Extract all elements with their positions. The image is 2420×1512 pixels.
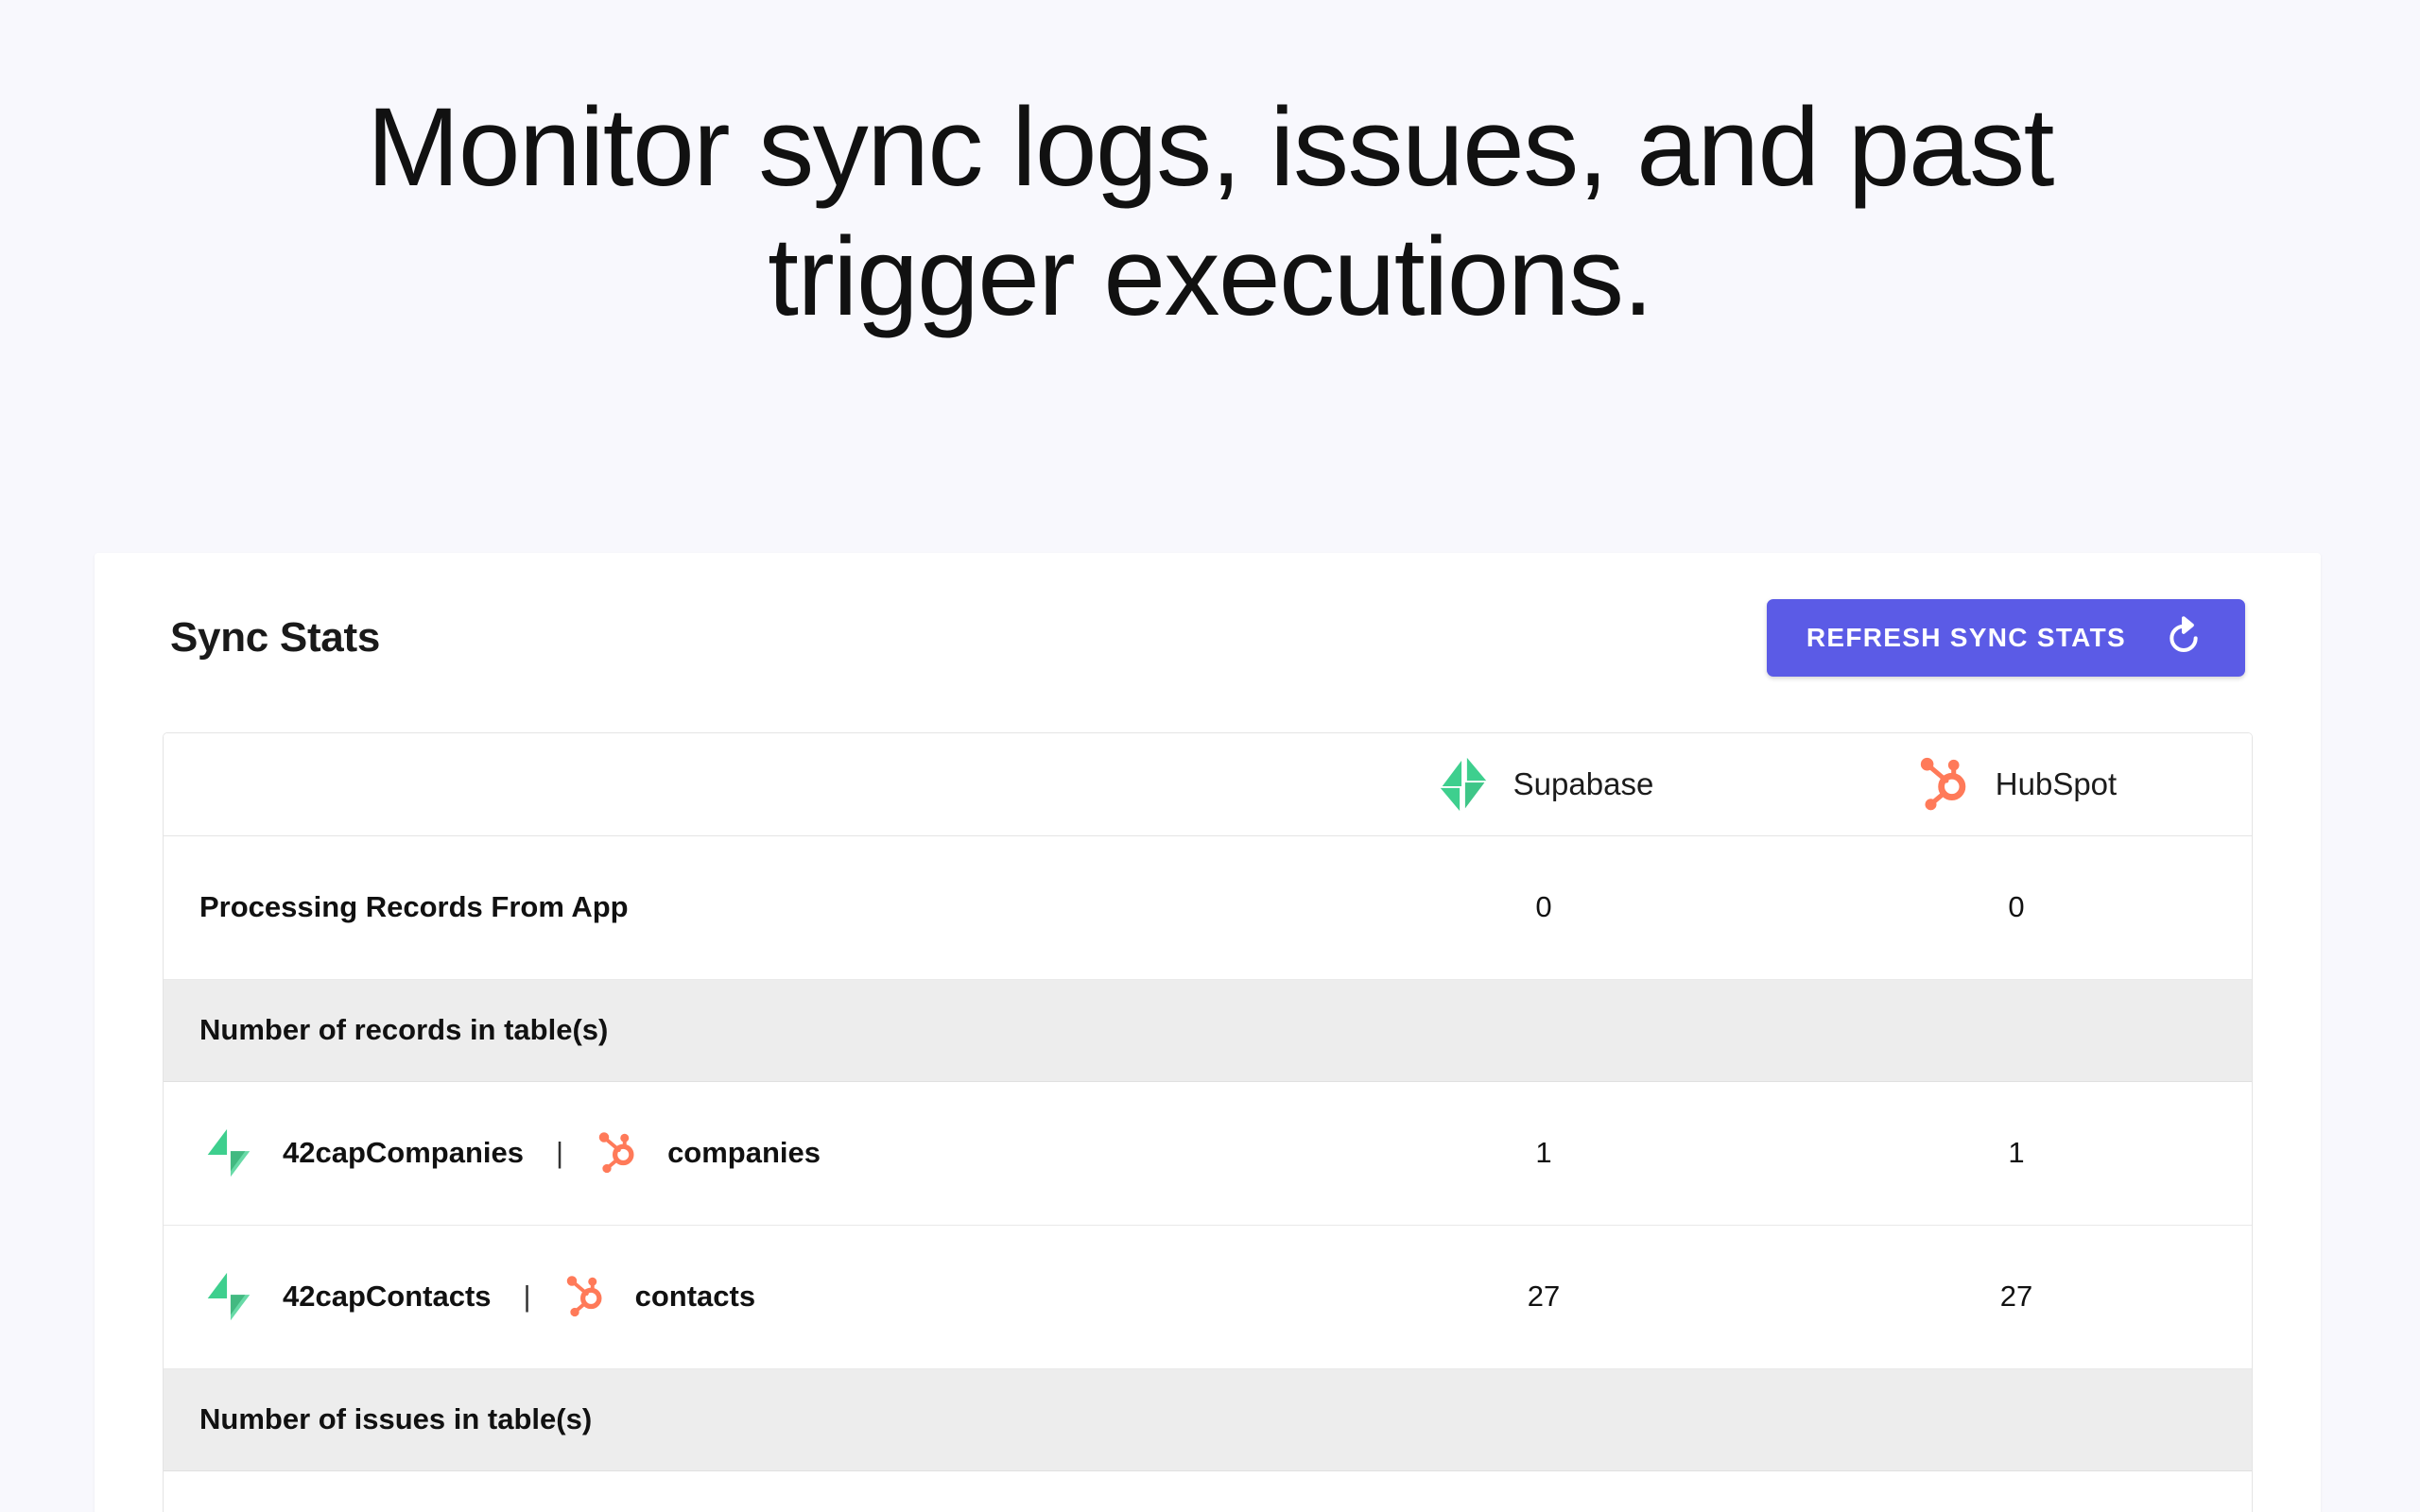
table-row-partial [164,1470,2253,1512]
column-header-hubspot-label: HubSpot [1996,766,2117,802]
column-header-label [164,733,1307,835]
card-header: Sync Stats REFRESH SYNC STATS [95,553,2321,678]
row-hubspot-value: 1 [1780,1081,2253,1225]
pair-separator: | [556,1136,563,1170]
table-head: Supabase [164,733,2253,835]
section-label: Number of issues in table(s) [164,1368,2253,1470]
row-hubspot-value: 0 [1780,835,2253,979]
row-supabase-value: 27 [1307,1225,1780,1368]
column-header-supabase: Supabase [1307,733,1780,835]
table-row: 42capContacts | [164,1225,2253,1368]
column-header-hubspot: HubSpot [1780,733,2253,835]
table-row: 42capCompanies | [164,1081,2253,1225]
hubspot-object-name: contacts [635,1280,755,1314]
row-label: 42capContacts | [164,1225,1307,1368]
row-label [164,1470,1307,1512]
supabase-table-name: 42capCompanies [283,1136,524,1170]
table-section-row: Number of issues in table(s) [164,1368,2253,1470]
row-hubspot-value: 27 [1780,1225,2253,1368]
table-row: Processing Records From App 0 0 [164,835,2253,979]
supabase-logo [199,1267,258,1326]
row-supabase-value: 1 [1307,1081,1780,1225]
pair-separator: | [524,1280,531,1314]
refresh-button-label: REFRESH SYNC STATS [1806,623,2126,653]
sync-stats-card: Sync Stats REFRESH SYNC STATS [95,553,2321,1512]
page-root: Monitor sync logs, issues, and past trig… [0,0,2420,1512]
supabase-logo [1434,755,1493,814]
row-label: 42capCompanies | [164,1081,1307,1225]
sync-stats-table-wrapper: Supabase [163,732,2253,1512]
hubspot-logo [1916,755,1975,814]
table-header-row: Supabase [164,733,2253,835]
refresh-sync-stats-button[interactable]: REFRESH SYNC STATS [1767,599,2245,677]
supabase-logo [199,1124,258,1182]
card-title: Sync Stats [170,614,380,661]
page-title: Monitor sync logs, issues, and past trig… [208,83,2212,342]
table-section-row: Number of records in table(s) [164,979,2253,1081]
row-hubspot-value [1780,1470,2253,1512]
refresh-icon [2162,616,2205,660]
row-label: Processing Records From App [164,835,1307,979]
row-supabase-value [1307,1470,1780,1512]
hero-section: Monitor sync logs, issues, and past trig… [0,0,2420,342]
supabase-table-name: 42capContacts [283,1280,492,1314]
hubspot-object-name: companies [667,1136,821,1170]
row-supabase-value: 0 [1307,835,1780,979]
table-body: Processing Records From App 0 0 Number o… [164,835,2253,1512]
sync-stats-table: Supabase [164,733,2253,1512]
section-label: Number of records in table(s) [164,979,2253,1081]
hubspot-logo [563,1274,609,1319]
column-header-supabase-label: Supabase [1513,766,1654,802]
hubspot-logo [596,1130,641,1176]
